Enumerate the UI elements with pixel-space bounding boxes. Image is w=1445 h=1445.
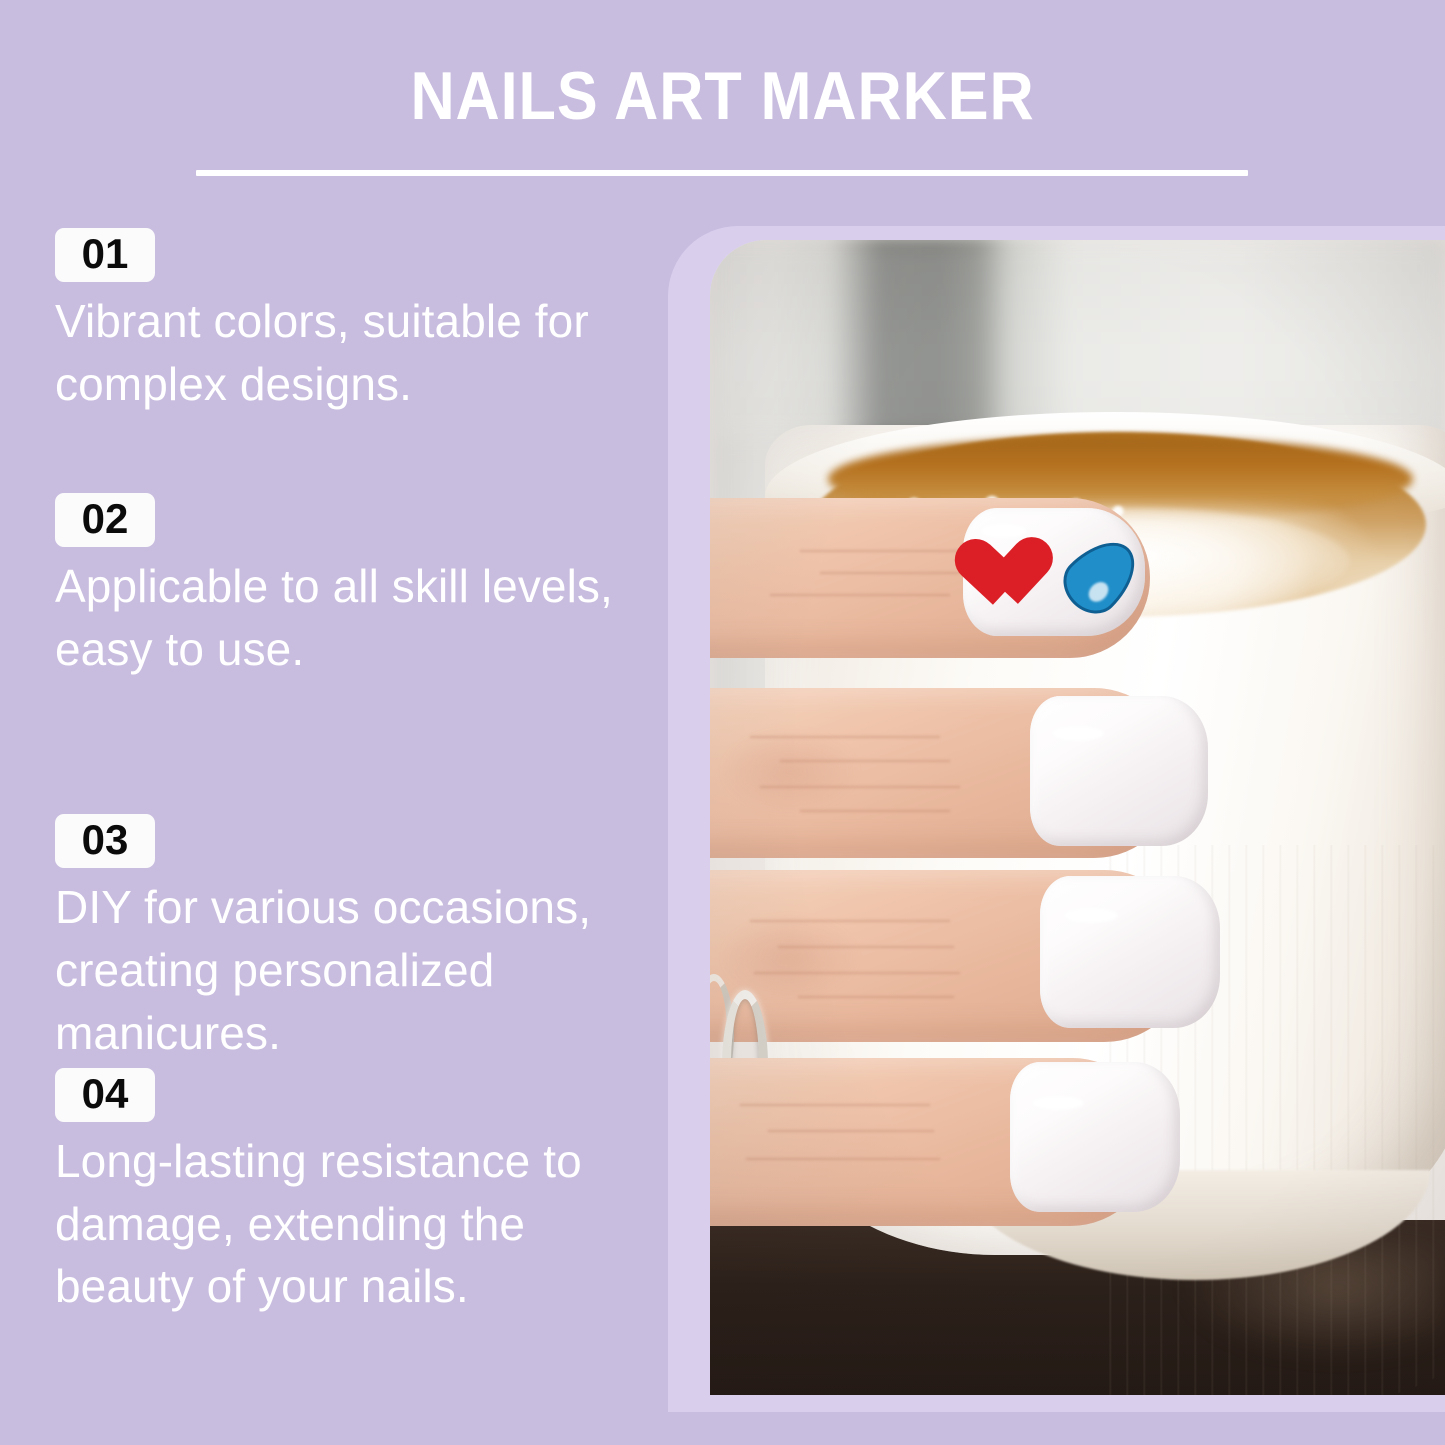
page-title: NAILS ART MARKER (72, 62, 1373, 130)
feature-text-04: Long-lasting resistance to damage, exten… (55, 1130, 635, 1318)
fingernail-white-3 (1040, 876, 1220, 1028)
poster-header: NAILS ART MARKER (0, 0, 1445, 200)
feature-text-01: Vibrant colors, suitable for complex des… (55, 290, 635, 415)
droplet-highlight (1085, 578, 1113, 606)
feature-number-badge-03: 03 (55, 814, 155, 868)
feature-list: 01 Vibrant colors, suitable for complex … (0, 214, 660, 1318)
hand (710, 570, 1270, 1395)
fingernail-white-4 (1010, 1062, 1180, 1212)
feature-item-04: 04 Long-lasting resistance to damage, ex… (0, 1068, 660, 1318)
title-divider (196, 170, 1248, 176)
fingernail-white-2 (1030, 696, 1208, 846)
product-photo (710, 240, 1445, 1395)
feature-item-02: 02 Applicable to all skill levels, easy … (0, 493, 660, 680)
blurred-window-light (710, 240, 1445, 440)
feature-text-02: Applicable to all skill levels, easy to … (55, 555, 635, 680)
feature-item-01: 01 Vibrant colors, suitable for complex … (0, 228, 660, 415)
heart-decal (974, 539, 1053, 618)
feature-text-03: DIY for various occasions, creating pers… (55, 876, 635, 1064)
feature-number-badge-01: 01 (55, 228, 155, 282)
product-infographic-poster: NAILS ART MARKER 01 Vibrant colors, suit… (0, 0, 1445, 1445)
feature-item-03: 03 DIY for various occasions, creating p… (0, 814, 660, 1064)
feature-number-badge-02: 02 (55, 493, 155, 547)
feature-number-badge-04: 04 (55, 1068, 155, 1122)
